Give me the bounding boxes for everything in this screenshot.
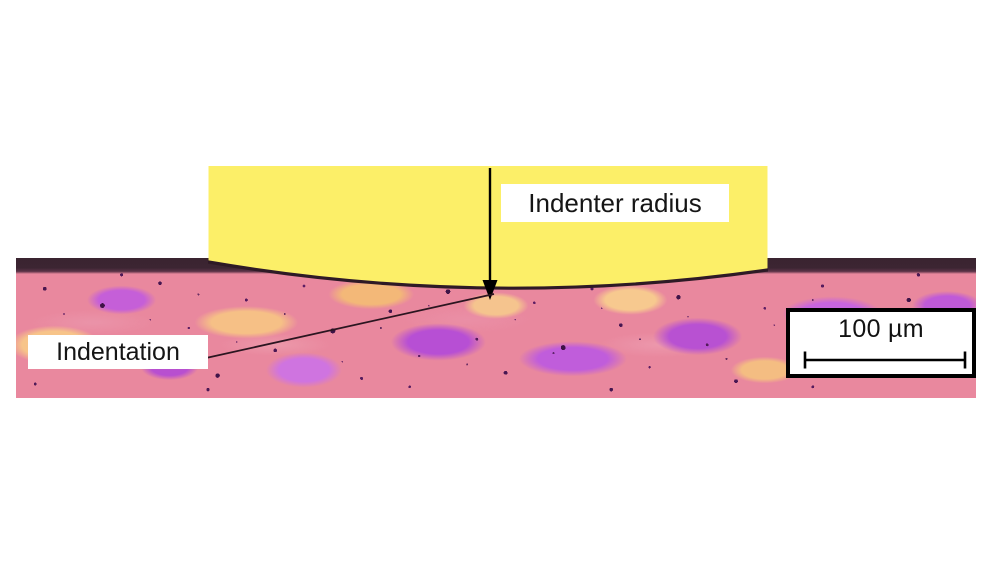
- indentation-label: Indentation: [28, 335, 208, 369]
- scale-bar: 100 µm: [786, 308, 976, 378]
- figure-canvas: Indenter radius Indentation 100 µm: [0, 0, 999, 562]
- indentation-leader-line: [200, 288, 500, 364]
- scale-bar-label: 100 µm: [790, 315, 972, 344]
- scale-bar-rule: [802, 350, 960, 370]
- indenter-radius-label: Indenter radius: [501, 184, 729, 222]
- leader-stroke: [206, 294, 494, 358]
